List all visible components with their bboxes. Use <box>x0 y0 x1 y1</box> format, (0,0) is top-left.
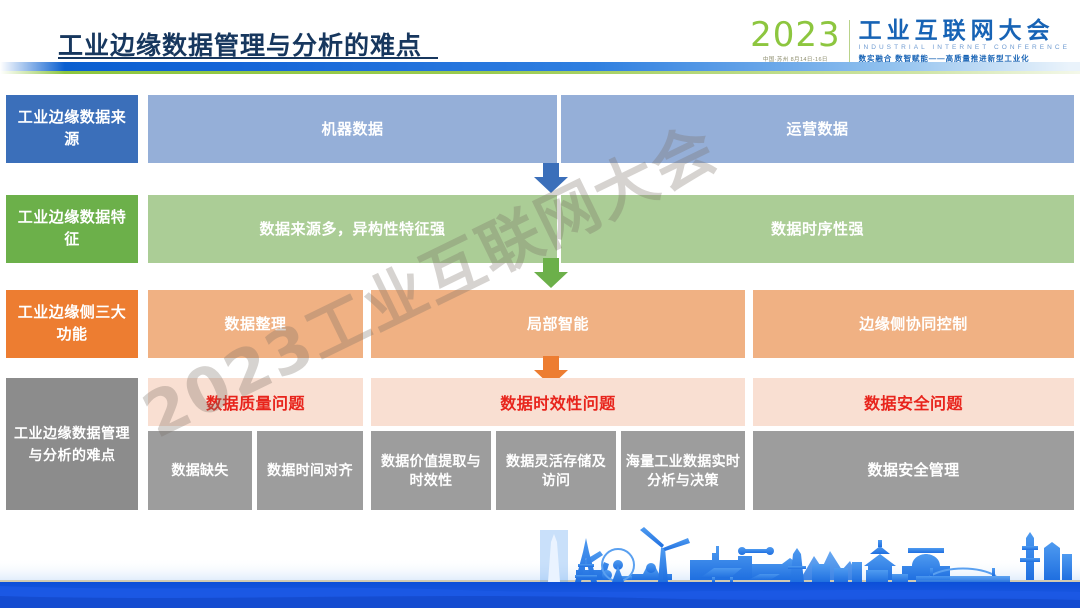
subcell-value-extraction: 数据价值提取与时效性 <box>371 431 491 510</box>
logo-date-location: 中国·苏州 8月14日-16日 <box>750 55 841 63</box>
title-underline <box>58 57 438 59</box>
group-header-data-timeliness: 数据时效性问题 <box>371 378 745 426</box>
logo-slogan: 数实融合 数智赋能——高质量推进新型工业化 <box>859 53 1070 64</box>
row-label-edge-functions: 工业边缘侧三大功能 <box>6 290 138 358</box>
footer-skyline <box>0 518 1080 608</box>
arrow-green-icon <box>534 258 568 288</box>
subcell-realtime-analysis: 海量工业数据实时分析与决策 <box>621 431 745 510</box>
subcell-data-time-alignment: 数据时间对齐 <box>257 431 363 510</box>
cell-edge-coordinated-control: 边缘侧协同控制 <box>753 290 1074 358</box>
subcell-data-security-management: 数据安全管理 <box>753 431 1074 510</box>
cell-time-series: 数据时序性强 <box>561 195 1074 263</box>
header-accent-bar-green <box>0 71 1080 74</box>
subcell-data-missing: 数据缺失 <box>148 431 252 510</box>
cell-operation-data: 运营数据 <box>561 95 1074 163</box>
cell-heterogeneous-sources: 数据来源多，异构性特征强 <box>148 195 557 263</box>
logo-text-block: 工业互联网大会 INDUSTRIAL INTERNET CONFERENCE 数… <box>850 18 1070 64</box>
cell-data-organization: 数据整理 <box>148 290 363 358</box>
group-header-data-quality: 数据质量问题 <box>148 378 363 426</box>
skyline-illustration <box>0 518 1080 608</box>
conference-logo: 2023 中国·苏州 8月14日-16日 工业互联网大会 INDUSTRIAL … <box>750 18 1070 64</box>
cell-local-intelligence: 局部智能 <box>371 290 745 358</box>
subcell-flexible-storage: 数据灵活存储及访问 <box>496 431 616 510</box>
logo-name-cn: 工业互联网大会 <box>859 18 1070 43</box>
arrow-blue-icon <box>534 163 568 193</box>
slide-canvas: 工业边缘数据管理与分析的难点 2023 中国·苏州 8月14日-16日 工业互联… <box>0 0 1080 608</box>
row-label-data-feature: 工业边缘数据特征 <box>6 195 138 263</box>
logo-year-block: 2023 中国·苏州 8月14日-16日 <box>750 18 849 63</box>
row-label-data-source: 工业边缘数据来源 <box>6 95 138 163</box>
logo-year: 2023 <box>750 18 841 52</box>
group-header-data-security: 数据安全问题 <box>753 378 1074 426</box>
logo-name-en: INDUSTRIAL INTERNET CONFERENCE <box>859 44 1070 51</box>
row-label-difficulties: 工业边缘数据管理与分析的难点 <box>6 378 138 510</box>
cell-machine-data: 机器数据 <box>148 95 557 163</box>
